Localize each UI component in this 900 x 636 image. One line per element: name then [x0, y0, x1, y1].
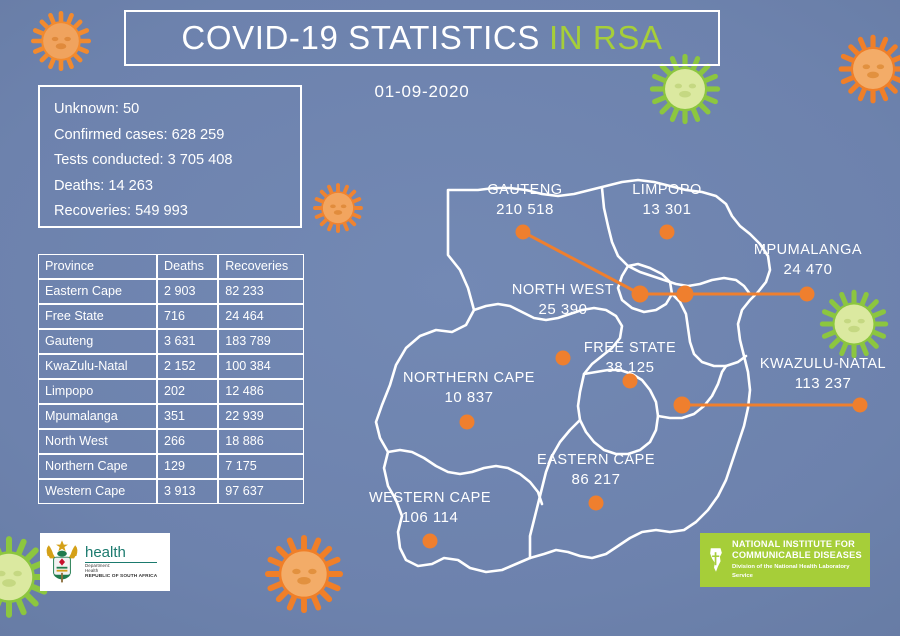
cell-recoveries: 183 789: [218, 329, 304, 354]
column-header-province: Province: [38, 254, 157, 279]
map-marker-gauteng-label: [516, 225, 531, 240]
table-row: Northern Cape 129 7 175: [38, 454, 304, 479]
map-label-western-cape-name: WESTERN CAPE: [356, 490, 504, 506]
map-label-northern-cape-value: 10 837: [392, 389, 546, 406]
nicd-line-1: NATIONAL INSTITUTE FOR: [732, 539, 864, 550]
cell-province: KwaZulu-Natal: [38, 354, 157, 379]
map-label-gauteng-value: 210 518: [450, 201, 600, 218]
cell-recoveries: 24 464: [218, 304, 304, 329]
map-label-kwazulu-natal-value: 113 237: [758, 375, 888, 392]
map-label-mpumalanga-value: 24 470: [738, 261, 878, 278]
table-row: Western Cape 3 913 97 637: [38, 479, 304, 504]
page-title-main: COVID-19 STATISTICS: [181, 19, 540, 57]
covid-statistics-poster: COVID-19 STATISTICS IN RSA 01-09-2020 Un…: [0, 0, 900, 636]
cell-deaths: 129: [157, 454, 218, 479]
cell-deaths: 3 913: [157, 479, 218, 504]
map-label-mpumalanga-name: MPUMALANGA: [738, 242, 878, 258]
cell-deaths: 3 631: [157, 329, 218, 354]
virus-icon-orange-top-right: [836, 32, 900, 106]
cell-province: Mpumalanga: [38, 404, 157, 429]
map-marker-kwazulu-natal: [674, 397, 691, 414]
cell-deaths: 2 152: [157, 354, 218, 379]
summary-recoveries: Recoveries: 549 993: [54, 199, 300, 225]
map-label-western-cape-value: 106 114: [356, 509, 504, 526]
map-marker-eastern-cape: [589, 496, 604, 511]
map-label-gauteng: GAUTENG 210 518: [450, 182, 600, 218]
summary-unknown: Unknown: 50: [54, 97, 300, 123]
map-label-limpopo-name: LIMPOPO: [602, 182, 732, 198]
map-label-kwazulu-natal-name: KWAZULU-NATAL: [758, 356, 888, 372]
summary-statistics-box: Unknown: 50 Confirmed cases: 628 259 Tes…: [38, 85, 302, 228]
table-header-row: Province Deaths Recoveries: [38, 254, 304, 279]
cell-province: Eastern Cape: [38, 279, 157, 304]
map-marker-mpumalanga: [677, 286, 694, 303]
health-sub-republic: REPUBLIC OF SOUTH AFRICA: [85, 574, 157, 579]
map-label-eastern-cape-name: EASTERN CAPE: [522, 452, 670, 468]
cell-recoveries: 12 486: [218, 379, 304, 404]
south-africa-map: GAUTENG 210 518 LIMPOPO 13 301 MPUMALANG…: [340, 160, 888, 580]
page-title-accent: IN RSA: [549, 19, 663, 57]
department-of-health-logo: health Department: Health REPUBLIC OF SO…: [40, 533, 170, 591]
cell-province: Limpopo: [38, 379, 157, 404]
nicd-logo: NATIONAL INSTITUTE FOR COMMUNICABLE DISE…: [700, 533, 870, 587]
cell-province: Gauteng: [38, 329, 157, 354]
table-row: Free State 716 24 464: [38, 304, 304, 329]
cell-deaths: 351: [157, 404, 218, 429]
map-label-gauteng-name: GAUTENG: [450, 182, 600, 198]
map-label-eastern-cape-value: 86 217: [522, 471, 670, 488]
nicd-subtitle: Division of the National Health Laborato…: [732, 563, 864, 581]
summary-deaths: Deaths: 14 263: [54, 174, 300, 200]
map-label-north-west-value: 25 390: [492, 301, 634, 318]
virus-icon-orange-top-left: [28, 8, 94, 74]
summary-confirmed-cases: Confirmed cases: 628 259: [54, 123, 300, 149]
cell-deaths: 2 903: [157, 279, 218, 304]
map-marker-limpopo: [660, 225, 675, 240]
cell-recoveries: 22 939: [218, 404, 304, 429]
africa-map-icon: [706, 547, 726, 573]
cell-deaths: 716: [157, 304, 218, 329]
table-row: Eastern Cape 2 903 82 233: [38, 279, 304, 304]
map-marker-mpumalanga-label: [800, 287, 815, 302]
map-label-free-state-name: FREE STATE: [562, 340, 698, 356]
cell-recoveries: 97 637: [218, 479, 304, 504]
table-row: North West 266 18 886: [38, 429, 304, 454]
cell-province: North West: [38, 429, 157, 454]
map-label-free-state: FREE STATE 38 125: [562, 340, 698, 376]
map-label-northern-cape: NORTHERN CAPE 10 837: [392, 370, 546, 406]
health-logo-text: health Department: Health REPUBLIC OF SO…: [85, 545, 157, 579]
column-header-deaths: Deaths: [157, 254, 218, 279]
map-marker-gauteng: [632, 286, 649, 303]
cell-province: Free State: [38, 304, 157, 329]
health-wordmark: health: [85, 545, 157, 563]
cell-recoveries: 7 175: [218, 454, 304, 479]
map-label-western-cape: WESTERN CAPE 106 114: [356, 490, 504, 526]
cell-province: Northern Cape: [38, 454, 157, 479]
table-row: Limpopo 202 12 486: [38, 379, 304, 404]
virus-icon-orange-bottom: [262, 532, 346, 616]
map-label-north-west: NORTH WEST 25 390: [492, 282, 634, 318]
summary-tests-conducted: Tests conducted: 3 705 408: [54, 148, 300, 174]
cell-deaths: 202: [157, 379, 218, 404]
map-label-northern-cape-name: NORTHERN CAPE: [392, 370, 546, 386]
cell-deaths: 266: [157, 429, 218, 454]
province-statistics-table: Province Deaths Recoveries Eastern Cape …: [38, 254, 304, 504]
table-row: KwaZulu-Natal 2 152 100 384: [38, 354, 304, 379]
table-row: Mpumalanga 351 22 939: [38, 404, 304, 429]
page-title: COVID-19 STATISTICS IN RSA: [124, 10, 720, 66]
cell-recoveries: 100 384: [218, 354, 304, 379]
table-row: Gauteng 3 631 183 789: [38, 329, 304, 354]
map-label-mpumalanga: MPUMALANGA 24 470: [738, 242, 878, 278]
map-label-eastern-cape: EASTERN CAPE 86 217: [522, 452, 670, 488]
map-marker-kwazulu-natal-label: [853, 398, 868, 413]
map-marker-northern-cape: [460, 415, 475, 430]
map-marker-western-cape: [423, 534, 438, 549]
nicd-logo-text: NATIONAL INSTITUTE FOR COMMUNICABLE DISE…: [732, 539, 864, 581]
map-label-limpopo-value: 13 301: [602, 201, 732, 218]
cell-recoveries: 18 886: [218, 429, 304, 454]
cell-province: Western Cape: [38, 479, 157, 504]
map-label-kwazulu-natal: KWAZULU-NATAL 113 237: [758, 356, 888, 392]
column-header-recoveries: Recoveries: [218, 254, 304, 279]
south-africa-coat-of-arms-icon: [44, 538, 80, 586]
map-label-limpopo: LIMPOPO 13 301: [602, 182, 732, 218]
nicd-line-2: COMMUNICABLE DISEASES: [732, 550, 864, 561]
map-label-north-west-name: NORTH WEST: [492, 282, 634, 298]
map-label-free-state-value: 38 125: [562, 359, 698, 376]
cell-recoveries: 82 233: [218, 279, 304, 304]
